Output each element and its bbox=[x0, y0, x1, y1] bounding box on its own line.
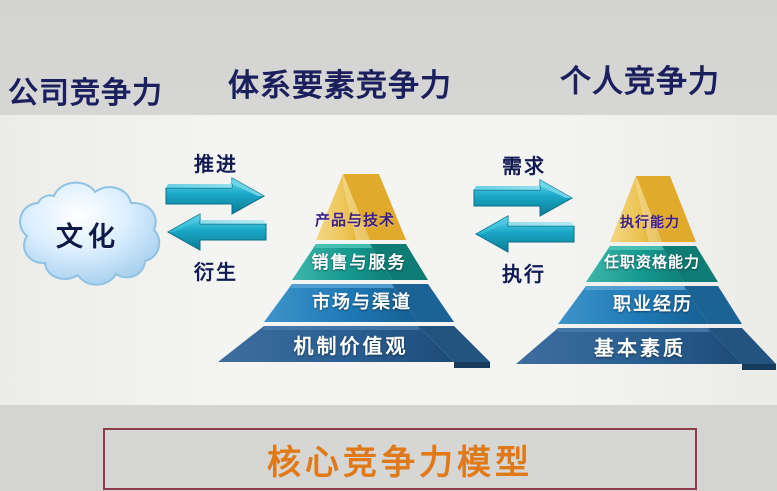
heading-company-competitiveness: 公司竞争力 bbox=[8, 68, 163, 112]
pyramid-3d-shape bbox=[206, 140, 496, 375]
personal-competency-pyramid: 执行能力 任职资格能力 职业经历 基本素质 bbox=[508, 142, 777, 377]
heading-personal-competitiveness: 个人竞争力 bbox=[560, 56, 720, 101]
model-title-box: 核心竞争力模型 bbox=[103, 428, 697, 490]
culture-cloud: 文化 bbox=[8, 176, 168, 292]
pyramid-3d-shape bbox=[508, 142, 777, 377]
system-element-pyramid: 产品与技术 销售与服务 市场与渠道 机制价值观 bbox=[206, 140, 496, 375]
model-title-text: 核心竞争力模型 bbox=[267, 435, 533, 484]
diagram-canvas: 公司竞争力 体系要素竞争力 个人竞争力 文化 推进 bbox=[0, 0, 777, 491]
cloud-label: 文化 bbox=[8, 176, 168, 292]
heading-system-element-competitiveness: 体系要素竞争力 bbox=[228, 60, 452, 105]
